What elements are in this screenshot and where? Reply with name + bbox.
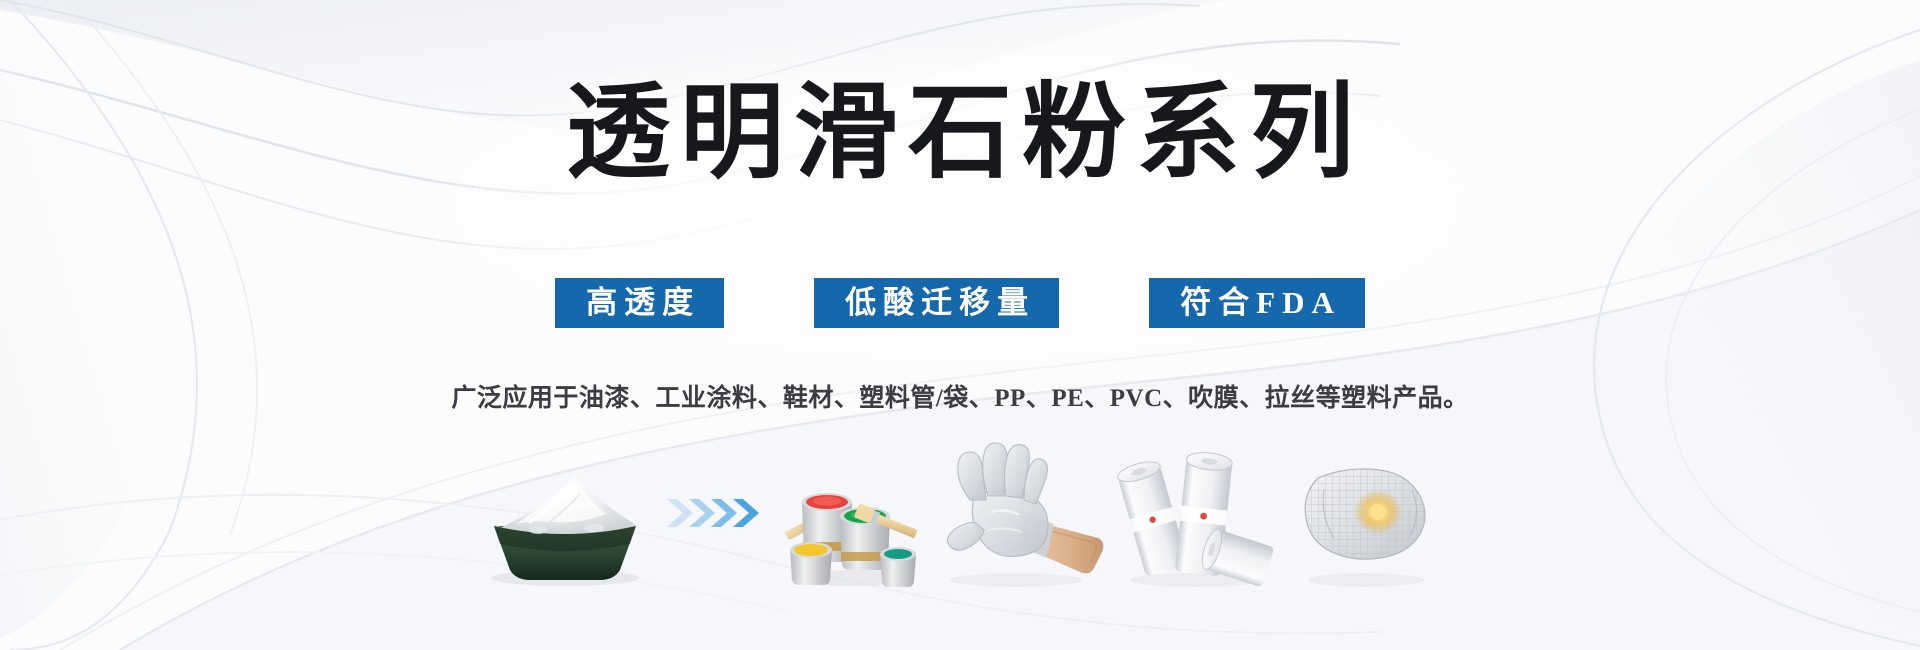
page-title: 透明滑石粉系列 [0, 78, 1920, 190]
talc-powder-bowl-image [470, 438, 660, 588]
feature-badge-group: 高透度 低酸迁移量 符合FDA [0, 278, 1920, 328]
gloved-hand-image [930, 438, 1110, 588]
paint-cans-image [780, 438, 930, 588]
shoe-sole-image [1280, 438, 1450, 588]
badge-fda-compliant[interactable]: 符合FDA [1149, 278, 1365, 328]
process-arrows-icon [660, 438, 780, 588]
application-description: 广泛应用于油漆、工业涂料、鞋材、塑料管/袋、PP、PE、PVC、吹膜、拉丝等塑料… [0, 383, 1920, 415]
product-application-strip [0, 438, 1920, 588]
product-banner: 透明滑石粉系列 高透度 低酸迁移量 符合FDA 广泛应用于油漆、工业涂料、鞋材、… [0, 0, 1920, 650]
badge-high-transparency[interactable]: 高透度 [555, 278, 724, 328]
film-rolls-image [1110, 438, 1280, 588]
badge-low-acid-migration[interactable]: 低酸迁移量 [814, 278, 1059, 328]
